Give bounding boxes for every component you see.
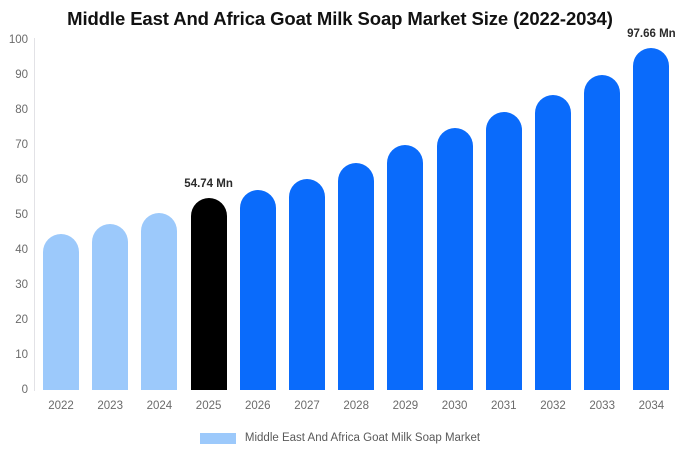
x-axis-tick-label: 2027 [294,400,320,412]
y-axis-tick-label: 30 [0,279,28,291]
bar[interactable] [92,224,128,390]
x-axis-tick-label: 2032 [540,400,566,412]
bar-value-label: 97.66 Mn [627,28,676,40]
y-axis-tick-label: 40 [0,244,28,256]
bar-group: 2022 [43,0,79,450]
bar[interactable] [584,75,620,390]
x-axis-tick-label: 2026 [245,400,271,412]
x-axis-tick-label: 2030 [442,400,468,412]
bar[interactable] [535,95,571,390]
bar[interactable] [191,198,227,390]
bar-group: 2027 [289,0,325,450]
bar-group: 2026 [240,0,276,450]
bar-group: 54.74 Mn2025 [191,0,227,450]
bar-chart: Middle East And Africa Goat Milk Soap Ma… [0,0,680,450]
bar-group: 2023 [92,0,128,450]
y-axis-tick-label: 50 [0,209,28,221]
bar[interactable] [289,179,325,390]
bar[interactable] [141,213,177,390]
x-axis-tick-label: 2025 [196,400,222,412]
bar[interactable] [486,112,522,390]
x-axis-tick-label: 2031 [491,400,517,412]
bar[interactable] [437,128,473,390]
y-axis-tick-label: 60 [0,174,28,186]
chart-legend: Middle East And Africa Goat Milk Soap Ma… [0,432,680,444]
bar[interactable] [387,145,423,390]
x-axis-tick-label: 2034 [639,400,665,412]
x-axis-tick-label: 2022 [48,400,74,412]
bar-value-label: 54.74 Mn [184,178,233,190]
x-axis-tick-label: 2028 [343,400,369,412]
y-axis-tick-label: 90 [0,69,28,81]
y-axis-ticks: 0102030405060708090100 [0,0,28,450]
x-axis-tick-label: 2024 [147,400,173,412]
y-axis-tick-label: 80 [0,104,28,116]
bar[interactable] [43,234,79,390]
bar[interactable] [633,48,669,390]
x-axis-tick-label: 2033 [589,400,615,412]
bar-group: 2032 [535,0,571,450]
legend-label: Middle East And Africa Goat Milk Soap Ma… [245,432,480,444]
bar-group: 2024 [141,0,177,450]
bar-group: 2028 [338,0,374,450]
bar-group: 2033 [584,0,620,450]
bars-container: 20222023202454.74 Mn20252026202720282029… [35,0,680,450]
x-axis-tick-label: 2023 [97,400,123,412]
bar[interactable] [338,163,374,390]
y-axis-tick-label: 10 [0,349,28,361]
y-axis-tick-label: 20 [0,314,28,326]
x-axis-tick-label: 2029 [393,400,419,412]
bar[interactable] [240,190,276,390]
y-axis-tick-label: 0 [0,384,28,396]
y-axis-tick-label: 70 [0,139,28,151]
bar-group: 2031 [486,0,522,450]
y-axis-tick-label: 100 [0,34,28,46]
bar-group: 2030 [437,0,473,450]
bar-group: 97.66 Mn2034 [633,0,669,450]
legend-swatch [200,433,236,444]
bar-group: 2029 [387,0,423,450]
